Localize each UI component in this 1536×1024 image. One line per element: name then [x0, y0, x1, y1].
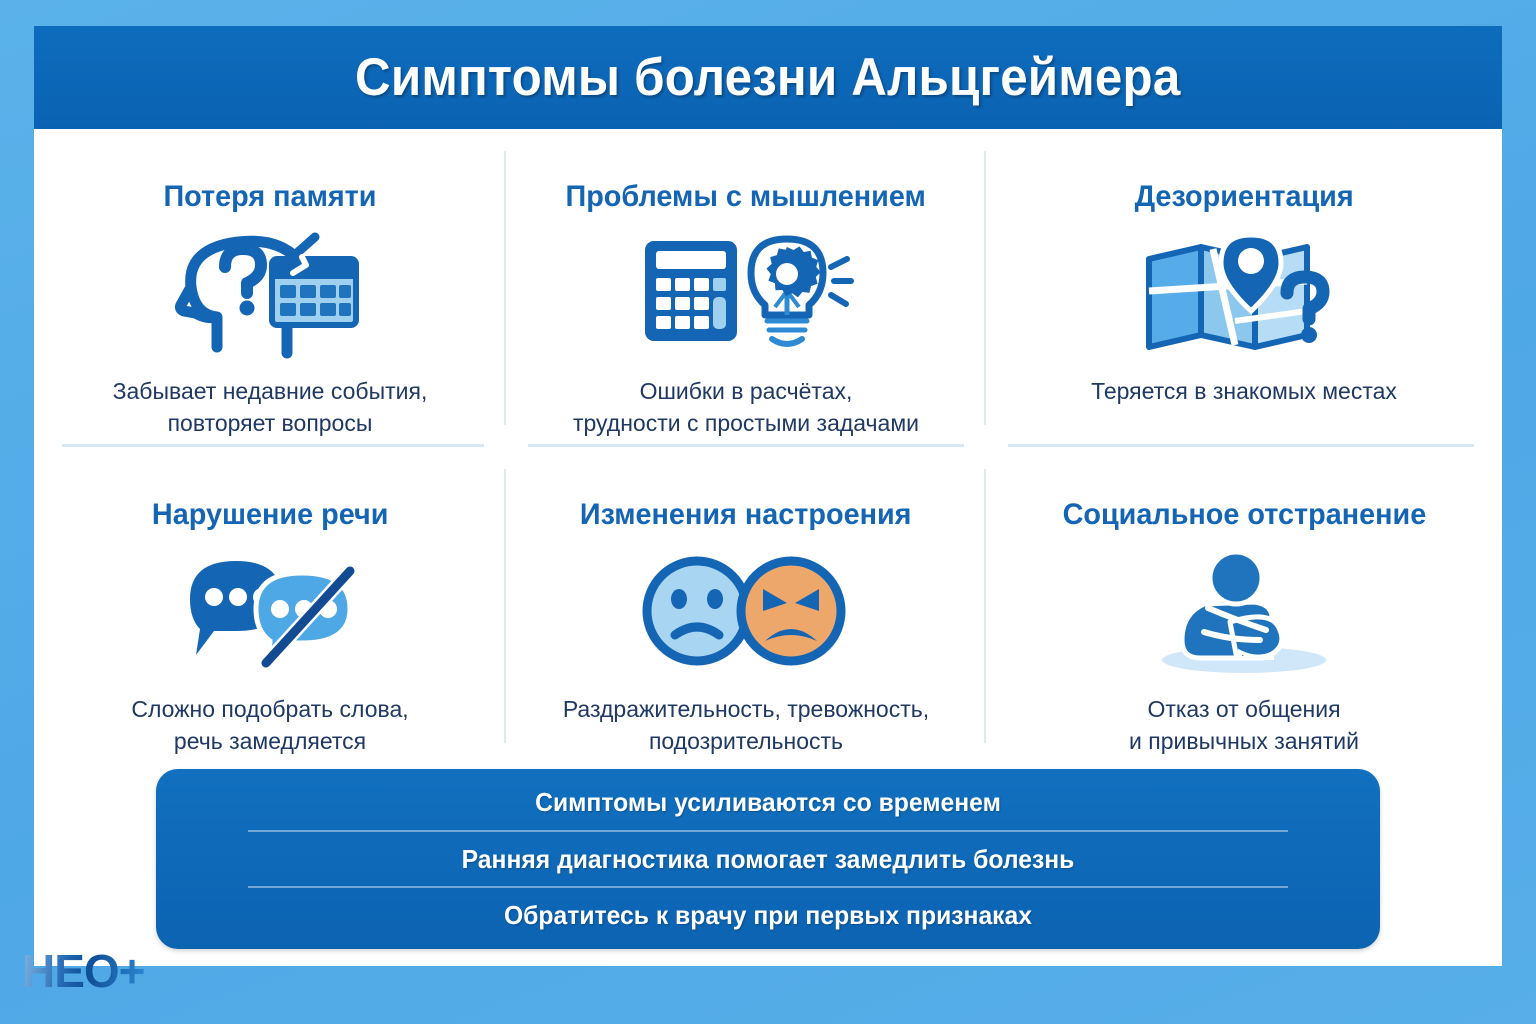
map-pin-question-icon [1139, 229, 1349, 357]
card-description: Забывает недавние события, повторяет воп… [113, 375, 428, 440]
header-banner: Симптомы болезни Альцгеймера [34, 26, 1502, 129]
key-messages-panel: Симптомы усиливаются со временем Ранняя … [156, 769, 1380, 949]
symptom-card-disorientation: Дезориентация [986, 129, 1502, 447]
page-title: Симптомы болезни Альцгеймера [355, 47, 1180, 108]
key-message-line: Симптомы усиливаются со временем [187, 775, 1350, 830]
card-title: Проблемы с мышлением [566, 181, 926, 213]
key-message-line: Обратитесь к врачу при первых признаках [187, 888, 1350, 943]
card-description: Теряется в знакомых местах [1091, 375, 1397, 408]
symptom-card-mood-changes: Изменения настроения Р [506, 447, 986, 765]
symptoms-grid: Потеря памяти [34, 129, 1502, 765]
symptom-card-thinking-problems: Проблемы с мышлением [506, 129, 986, 447]
symptom-card-social-withdrawal: Социальное отстранение [986, 447, 1502, 765]
head-question-calendar-icon [175, 229, 365, 357]
speech-bubbles-slashed-icon [170, 547, 370, 675]
card-description: Сложно подобрать слова, речь замедляется [131, 693, 408, 758]
card-title: Дезориентация [1134, 181, 1353, 213]
symptom-card-speech-impairment: Нарушение речи [34, 447, 506, 765]
symptom-card-memory-loss: Потеря памяти [34, 129, 506, 447]
card-description: Отказ от общения и привычных занятий [1129, 693, 1359, 758]
card-description: Раздражительность, тревожность, подозрит… [563, 693, 929, 758]
card-title: Изменения настроения [580, 499, 912, 531]
sad-angry-faces-icon [641, 547, 851, 675]
infographic-poster: Симптомы болезни Альцгеймера Потеря памя… [0, 0, 1536, 1024]
person-sitting-alone-icon [1144, 547, 1344, 675]
brand-logo: НЕО+ [22, 948, 145, 994]
card-title: Нарушение речи [152, 499, 389, 531]
card-description: Ошибки в расчётах, трудности с простыми … [573, 375, 919, 440]
calculator-lightbulb-gear-icon [639, 229, 854, 357]
key-message-line: Ранняя диагностика помогает замедлить бо… [187, 832, 1350, 887]
poster-sheet: Симптомы болезни Альцгеймера Потеря памя… [34, 26, 1502, 966]
card-title: Потеря памяти [163, 181, 376, 213]
card-title: Социальное отстранение [1062, 499, 1426, 531]
